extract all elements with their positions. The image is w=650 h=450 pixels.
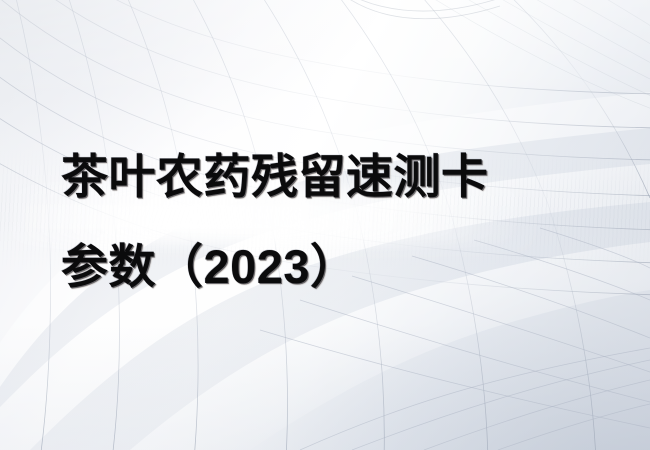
- title-line-2: 参数（2023）: [61, 222, 621, 312]
- top-arc: [318, 0, 512, 19]
- title-line-1: 茶叶农药残留速测卡: [61, 132, 621, 222]
- title-slide: 茶叶农药残留速测卡 参数（2023）: [0, 0, 650, 450]
- striation-lines-upper-right: [420, 0, 650, 112]
- title-block: 茶叶农药残留速测卡 参数（2023）: [61, 132, 621, 312]
